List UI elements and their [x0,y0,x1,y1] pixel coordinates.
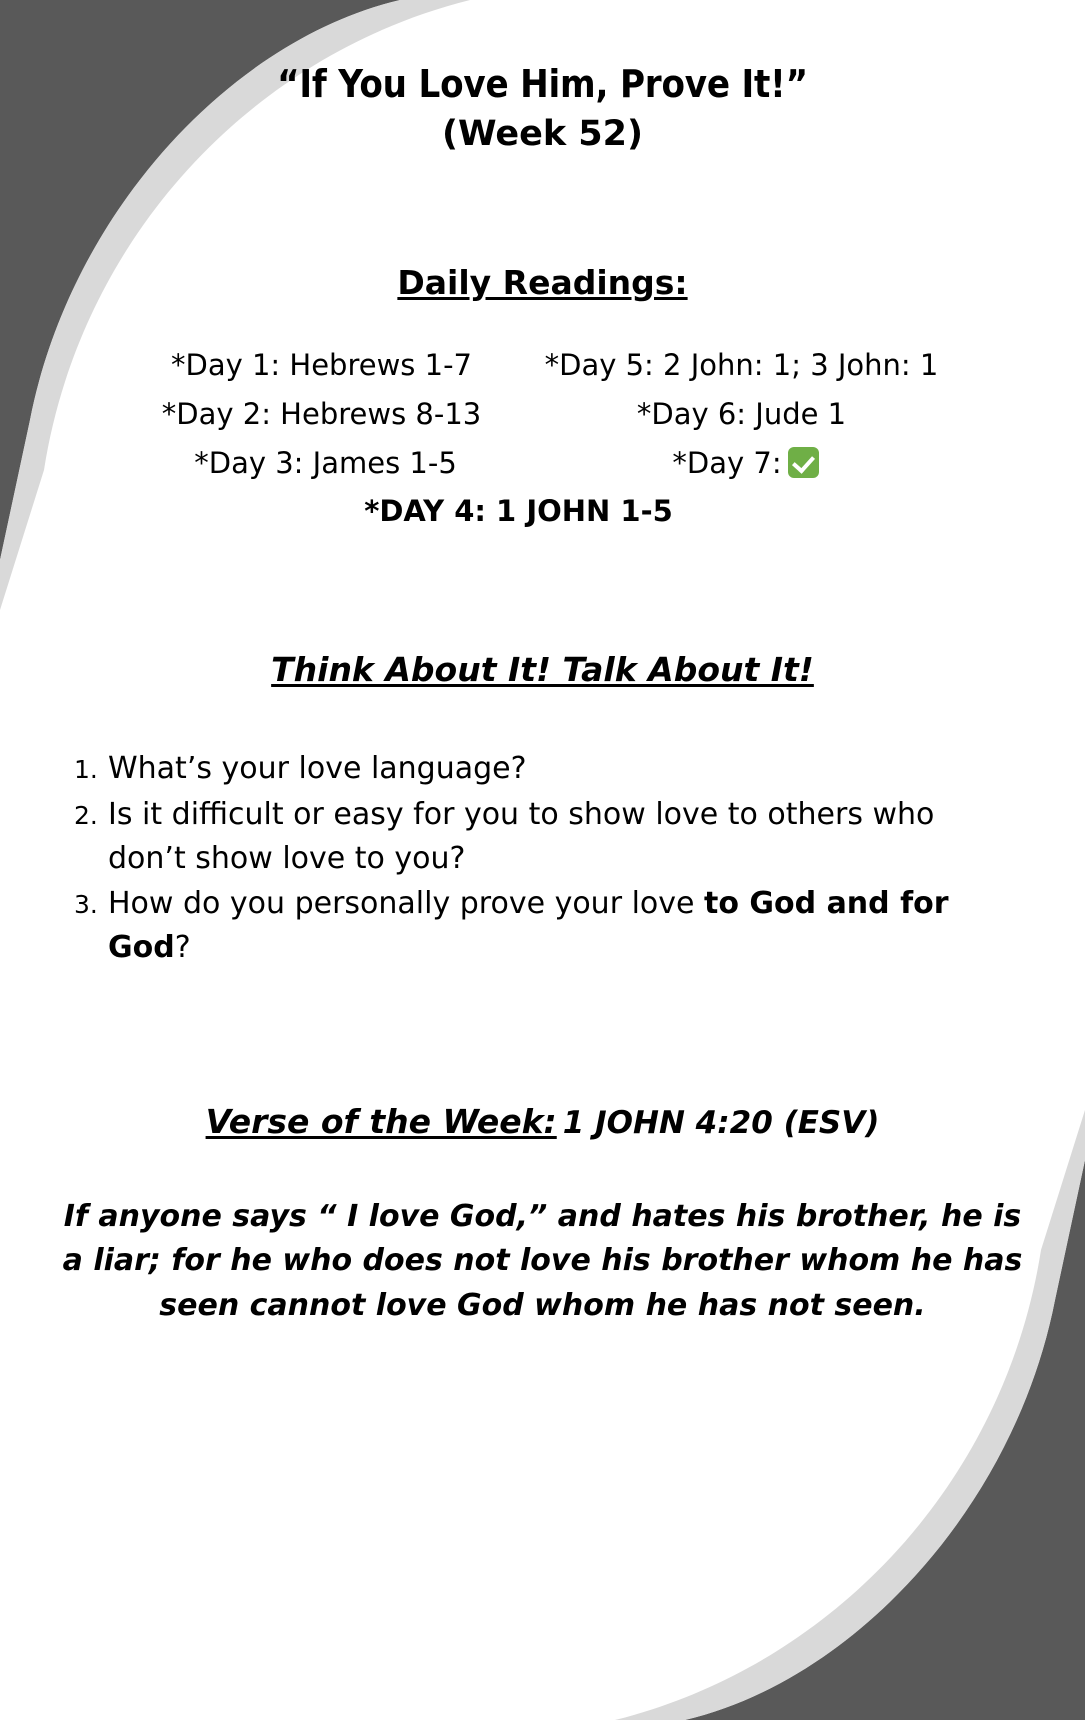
discussion-question-list: 1. What’s your love language? 2. Is it d… [0,747,1085,970]
reading-day-7: *Day 7: [672,442,818,484]
question-text-part: What’s your love language? [108,751,527,786]
list-item: 3. How do you personally prove your love… [74,882,975,970]
reading-day-6: *Day 6: Jude 1 [637,393,846,435]
reading-day-2: *Day 2: Hebrews 8-13 [162,393,481,435]
daily-readings-left-column: *Day 1: Hebrews 1-7 *Day 2: Hebrews 8-13… [128,344,534,484]
reading-day-3: *Day 3: James 1-5 [194,442,457,484]
page-title: “If You Love Him, Prove It!” (Week 52) [0,0,1085,155]
verse-reference: 1 JOHN 4:20 (ESV) [557,1105,880,1141]
question-number: 3. [74,882,108,924]
title-main: “If You Love Him, Prove It!” [0,62,1085,107]
think-about-it-heading: Think About It! Talk About It! [0,650,1085,689]
question-number: 2. [74,793,108,835]
question-text: Is it difficult or easy for you to show … [108,793,975,881]
verse-of-the-week-text: If anyone says “ I love God,” and hates … [0,1195,1085,1328]
list-item: 2. Is it difficult or easy for you to sh… [74,793,975,881]
reading-day-7-label: *Day 7: [672,442,781,484]
daily-readings-list: *Day 1: Hebrews 1-7 *Day 2: Hebrews 8-13… [0,344,1085,484]
reading-day-5: *Day 5: 2 John: 1; 3 John: 1 [545,344,939,386]
question-text-part: How do you personally prove your love [108,886,704,921]
title-week: (Week 52) [0,113,1085,155]
list-item: 1. What’s your love language? [74,747,975,791]
question-text: How do you personally prove your love to… [108,882,975,970]
verse-label: Verse of the Week: [206,1102,557,1141]
verse-of-the-week-heading: Verse of the Week:1 JOHN 4:20 (ESV) [0,1102,1085,1141]
reading-day-4-highlight: *DAY 4: 1 JOHN 1-5 [0,494,1061,528]
question-number: 1. [74,747,108,789]
document-page: “If You Love Him, Prove It!” (Week 52) D… [0,0,1085,1720]
question-text-part: Is it difficult or easy for you to show … [108,797,934,876]
daily-readings-heading: Daily Readings: [0,263,1085,302]
question-text-part: ? [175,930,191,965]
reading-day-1: *Day 1: Hebrews 1-7 [171,344,472,386]
daily-readings-right-column: *Day 5: 2 John: 1; 3 John: 1 *Day 6: Jud… [534,344,958,484]
green-check-box-icon [788,447,819,478]
question-text: What’s your love language? [108,747,975,791]
